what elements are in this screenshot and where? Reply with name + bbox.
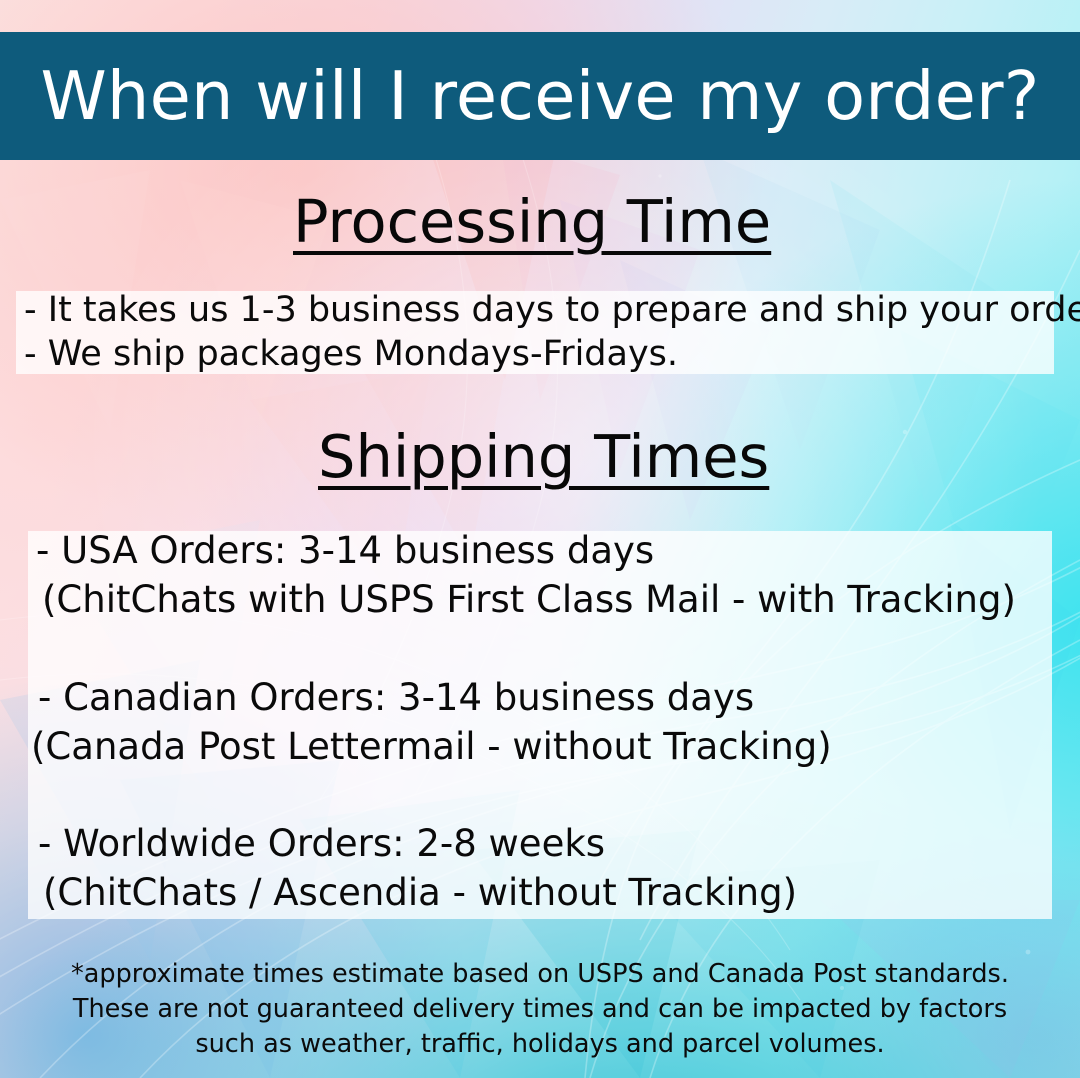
section-heading-processing-time: Processing Time	[293, 192, 771, 251]
shipping-info-poster: When will I receive my order? Processing…	[0, 0, 1080, 1078]
processing-time-line-1: - It takes us 1-3 business days to prepa…	[24, 293, 1080, 328]
footer-disclaimer-line-2: These are not guaranteed delivery times …	[60, 992, 1020, 1027]
footer-disclaimer-line-3: such as weather, traffic, holidays and p…	[60, 1027, 1020, 1062]
processing-time-line-2: - We ship packages Mondays-Fridays.	[24, 337, 678, 372]
page-title: When will I receive my order?	[40, 63, 1039, 130]
footer-disclaimer-line-1: *approximate times estimate based on USP…	[60, 957, 1020, 992]
shipping-entry-usa-line-2: (ChitChats with USPS First Class Mail - …	[42, 581, 1016, 618]
header-band: When will I receive my order?	[0, 32, 1080, 160]
footer-disclaimer: *approximate times estimate based on USP…	[60, 957, 1020, 1063]
section-heading-shipping-times: Shipping Times	[318, 427, 769, 486]
shipping-entry-canadian-line-1: - Canadian Orders: 3-14 business days	[38, 679, 754, 716]
shipping-entry-worldwide-line-2: (ChitChats / Ascendia - without Tracking…	[43, 874, 797, 911]
shipping-entry-usa-line-1: - USA Orders: 3-14 business days	[36, 532, 654, 569]
shipping-entry-canadian-line-2: (Canada Post Lettermail - without Tracki…	[31, 728, 832, 765]
shipping-entry-worldwide-line-1: - Worldwide Orders: 2-8 weeks	[38, 825, 605, 862]
